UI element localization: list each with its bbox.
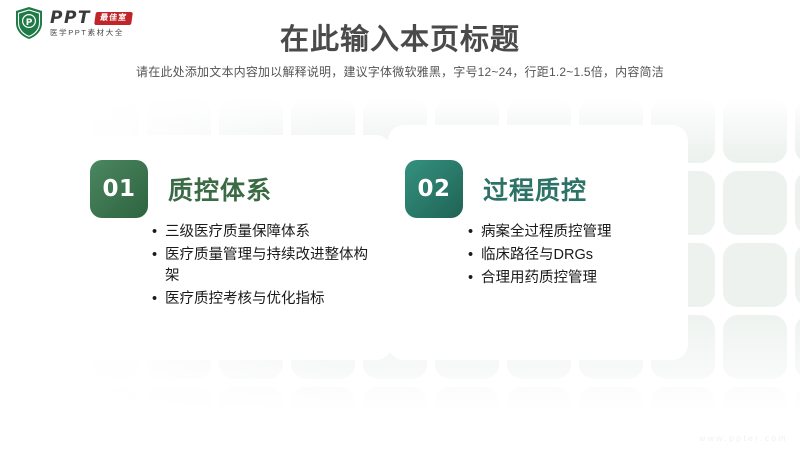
background-square <box>4 388 66 450</box>
background-square <box>4 244 66 306</box>
card-1-title: 质控体系 <box>168 171 272 207</box>
card-1-header: 01 质控体系 <box>90 160 272 218</box>
list-item: 合理用药质控管理 <box>468 268 698 289</box>
background-square <box>4 100 66 162</box>
background-square <box>364 388 426 450</box>
background-square <box>220 388 282 450</box>
list-item: 病案全过程质控管理 <box>468 222 698 243</box>
background-square <box>148 388 210 450</box>
card-2-header: 02 过程质控 <box>405 160 587 218</box>
card-2-number-badge: 02 <box>405 160 463 218</box>
background-square <box>796 388 800 450</box>
card-2-title: 过程质控 <box>483 171 587 207</box>
background-square <box>292 388 354 450</box>
background-square <box>796 316 800 378</box>
background-square <box>796 244 800 306</box>
page-subtitle: 请在此处添加文本内容加以解释说明，建议字体微软雅黑，字号12~24，行距1.2~… <box>0 63 800 80</box>
list-item: 医疗质控考核与优化指标 <box>152 289 382 310</box>
background-square <box>4 172 66 234</box>
background-square <box>724 316 786 378</box>
background-square <box>76 388 138 450</box>
background-square <box>4 316 66 378</box>
page-title: 在此输入本页标题 <box>0 16 800 58</box>
background-square <box>580 388 642 450</box>
background-square <box>724 244 786 306</box>
background-square <box>436 388 498 450</box>
background-square <box>796 100 800 162</box>
list-item: 临床路径与DRGs <box>468 245 698 266</box>
list-item: 医疗质量管理与持续改进整体构架 <box>152 245 382 287</box>
card-1-bullet-list: 三级医疗质量保障体系 医疗质量管理与持续改进整体构架 医疗质控考核与优化指标 <box>152 222 382 312</box>
background-square <box>724 172 786 234</box>
card-1-number-badge: 01 <box>90 160 148 218</box>
background-square <box>796 172 800 234</box>
site-watermark: www.ppter.com <box>699 433 788 443</box>
background-square <box>508 388 570 450</box>
slide: P PPT 最佳室 医学PPT素材大全 在此输入本页标题 请在此处添加文本内容加… <box>0 0 800 450</box>
background-square <box>724 100 786 162</box>
list-item: 三级医疗质量保障体系 <box>152 222 382 243</box>
card-2-bullet-list: 病案全过程质控管理 临床路径与DRGs 合理用药质控管理 <box>468 222 698 291</box>
